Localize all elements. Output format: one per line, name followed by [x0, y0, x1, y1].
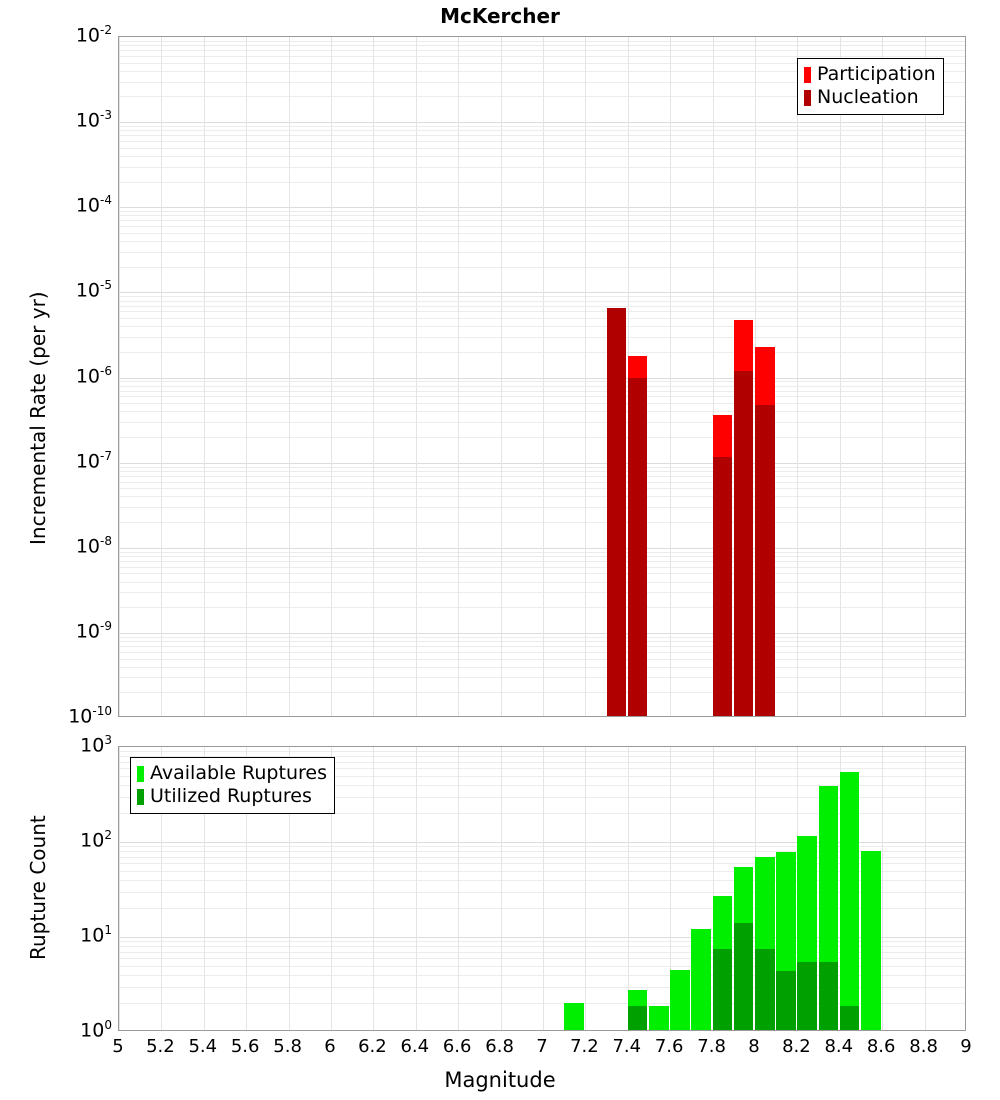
bar-segment-nucleation: [628, 378, 648, 717]
incremental-rate-plot: [118, 36, 966, 717]
bar-rupture-count: [755, 747, 775, 1031]
gridline-vertical: [585, 37, 586, 716]
gridline-vertical: [797, 37, 798, 716]
legend-item: Available Ruptures: [137, 762, 327, 785]
gridline-vertical: [585, 747, 586, 1030]
bar-segment-nucleation: [755, 405, 775, 717]
bar-rupture-count: [607, 747, 627, 1031]
y-tick-label: 10-7: [76, 450, 112, 471]
bar-rupture-count: [691, 747, 711, 1031]
x-tick-label: 9: [936, 1036, 996, 1057]
gridline-vertical: [882, 747, 883, 1030]
gridline-vertical: [204, 37, 205, 716]
gridline-vertical: [119, 747, 120, 1030]
gridline-vertical: [501, 37, 502, 716]
gridline-vertical: [289, 37, 290, 716]
gridline-vertical: [373, 37, 374, 716]
gridline-vertical: [925, 37, 926, 716]
bar-incremental-rate: [713, 37, 733, 717]
y-tick-label: 10-4: [76, 194, 112, 215]
y-tick-label: 10-8: [76, 535, 112, 556]
bar-rupture-count: [628, 747, 648, 1031]
y-tick-label: 10-6: [76, 365, 112, 386]
legend-item: Nucleation: [804, 86, 936, 109]
bar-segment-available: [670, 970, 690, 1031]
bar-rupture-count: [564, 747, 584, 1031]
bar-segment-utilized: [755, 949, 775, 1031]
x-axis-label: Magnitude: [0, 1068, 1000, 1092]
chart-canvas: McKercher 10-210-310-410-510-610-710-810…: [0, 0, 1000, 1100]
bar-incremental-rate: [755, 37, 775, 717]
top-y-axis-label: Incremental Rate (per yr): [26, 291, 50, 545]
bottom-legend: Available RupturesUtilized Ruptures: [130, 757, 335, 814]
bar-incremental-rate: [734, 37, 754, 717]
legend-label: Available Ruptures: [150, 764, 327, 783]
gridline-vertical: [161, 37, 162, 716]
gridline-vertical: [501, 747, 502, 1030]
bar-segment-utilized: [819, 962, 839, 1031]
gridline-vertical: [882, 37, 883, 716]
bar-segment-utilized: [628, 1006, 648, 1031]
bar-rupture-count: [734, 747, 754, 1031]
bar-segment-utilized: [776, 971, 796, 1031]
bar-incremental-rate: [607, 37, 627, 717]
gridline-vertical: [543, 37, 544, 716]
y-tick-label: 102: [80, 829, 112, 850]
legend-label: Participation: [817, 65, 936, 84]
gridline-vertical: [458, 37, 459, 716]
bar-rupture-count: [819, 747, 839, 1031]
gridline-vertical: [925, 747, 926, 1030]
legend-swatch-icon: [137, 789, 144, 805]
bottom-y-axis-label: Rupture Count: [26, 815, 50, 960]
bar-rupture-count: [840, 747, 860, 1031]
bar-segment-utilized: [840, 1006, 860, 1031]
y-tick-label: 10-10: [68, 705, 112, 726]
gridline-vertical: [543, 747, 544, 1030]
gridline-vertical: [373, 747, 374, 1030]
y-tick-label: 101: [80, 924, 112, 945]
legend-swatch-icon: [137, 766, 144, 782]
gridline-vertical: [331, 37, 332, 716]
legend-item: Utilized Ruptures: [137, 785, 327, 808]
legend-label: Utilized Ruptures: [150, 787, 312, 806]
bar-segment-utilized: [713, 949, 733, 1031]
legend-swatch-icon: [804, 90, 811, 106]
bar-rupture-count: [861, 747, 881, 1031]
y-tick-label: 103: [80, 734, 112, 755]
bar-rupture-count: [797, 747, 817, 1031]
legend-swatch-icon: [804, 67, 811, 83]
top-legend: ParticipationNucleation: [797, 58, 944, 115]
gridline-vertical: [670, 37, 671, 716]
bar-rupture-count: [713, 747, 733, 1031]
bar-segment-nucleation: [607, 308, 627, 717]
bar-segment-nucleation: [713, 457, 733, 717]
gridline-vertical: [458, 747, 459, 1030]
page-title: McKercher: [0, 4, 1000, 28]
y-tick-label: 10-9: [76, 620, 112, 641]
bar-rupture-count: [649, 747, 669, 1031]
gridline-vertical: [416, 747, 417, 1030]
bar-segment-available: [564, 1003, 584, 1031]
gridline-vertical: [119, 37, 120, 716]
gridline-vertical: [246, 37, 247, 716]
bar-segment-utilized: [797, 962, 817, 1031]
bar-segment-utilized: [734, 923, 754, 1031]
gridline-vertical: [416, 37, 417, 716]
y-tick-label: 10-3: [76, 109, 112, 130]
bar-incremental-rate: [628, 37, 648, 717]
bar-rupture-count: [670, 747, 690, 1031]
y-tick-label: 10-5: [76, 279, 112, 300]
bar-segment-available: [840, 772, 860, 1031]
bar-rupture-count: [776, 747, 796, 1031]
bar-segment-available: [861, 851, 881, 1031]
bar-segment-available: [691, 929, 711, 1031]
legend-label: Nucleation: [817, 88, 919, 107]
bar-segment-nucleation: [734, 371, 754, 717]
y-tick-label: 10-2: [76, 24, 112, 45]
legend-item: Participation: [804, 63, 936, 86]
bar-segment-available: [649, 1006, 669, 1031]
gridline-vertical: [840, 37, 841, 716]
